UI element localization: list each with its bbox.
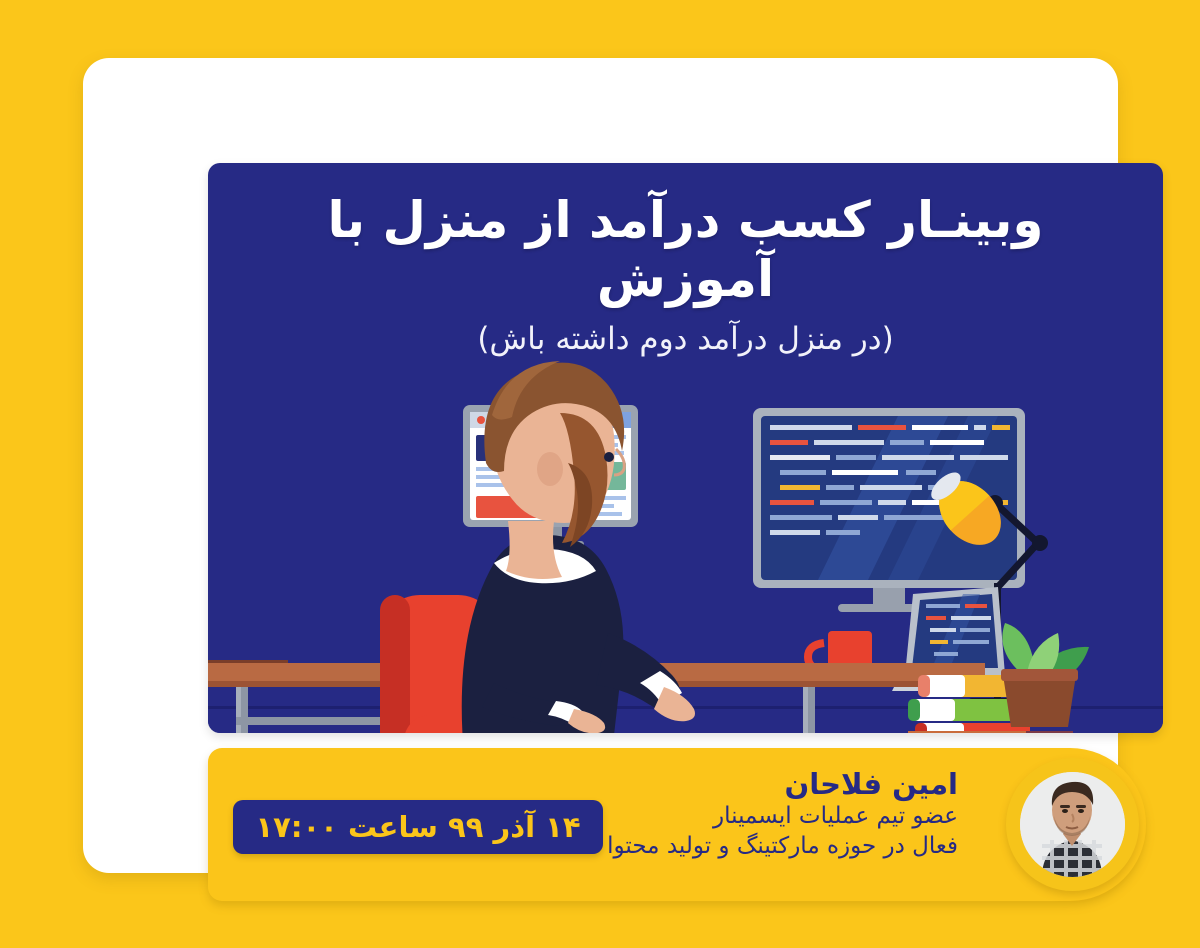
speaker-info: امین فلاحان عضو تیم عملیات ایسمینار فعال… [498, 766, 958, 862]
speaker-role-line-1: عضو تیم عملیات ایسمینار [498, 802, 958, 832]
footer-bar: ۱۴ آذر ۹۹ ساعت ۱۷:۰۰ امین فلاحان عضو تیم… [208, 748, 1146, 901]
person-seated [462, 361, 695, 733]
speaker-role-line-2: فعال در حوزه مارکتینگ و تولید محتوا [498, 832, 958, 862]
workspace-illustration [208, 163, 1163, 733]
drawer-cabinet [908, 731, 1073, 733]
speaker-name: امین فلاحان [498, 766, 958, 802]
avatar [1006, 758, 1139, 891]
poster-card: وبینـار کسب درآمد از منزل با آموزش (در م… [83, 58, 1118, 873]
hero-panel: وبینـار کسب درآمد از منزل با آموزش (در م… [208, 163, 1163, 733]
speaker-portrait [1020, 772, 1125, 877]
